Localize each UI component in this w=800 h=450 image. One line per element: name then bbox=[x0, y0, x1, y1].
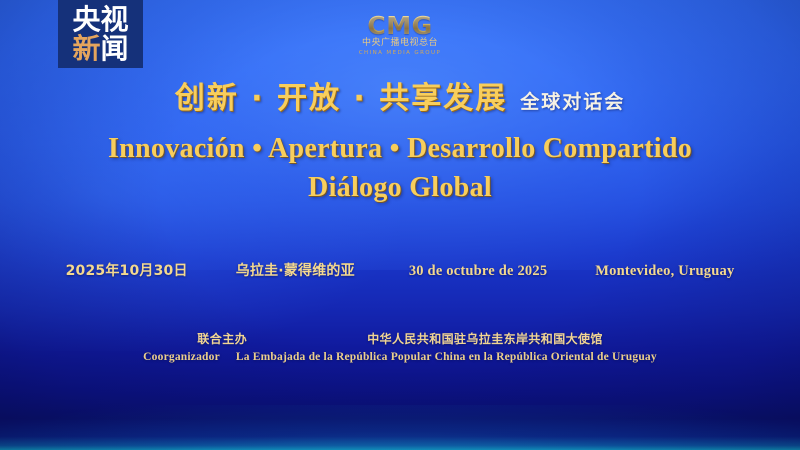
coorganizer-row-spanish: Coorganizador La Embajada de la Repúblic… bbox=[143, 351, 657, 363]
coorganizer-value-spanish: La Embajada de la República Popular Chin… bbox=[236, 351, 657, 363]
cctv-logo-char-wen: 闻 bbox=[101, 35, 129, 63]
coorganizer-label-spanish: Coorganizador bbox=[143, 351, 220, 363]
cctv-logo-char-shi: 视 bbox=[101, 6, 129, 34]
headline-chinese: 创新 · 开放 · 共享发展 全球对话会 bbox=[0, 82, 800, 117]
event-date-chinese: 2025年10月30日 bbox=[66, 260, 188, 280]
headline-spanish-line-2: Diálogo Global bbox=[0, 169, 800, 208]
coorganizer-label-chinese: 联合主办 bbox=[197, 330, 247, 347]
cctv-logo-line-2: 新 闻 bbox=[72, 35, 128, 63]
coorganizer-row-chinese: 联合主办 中华人民共和国驻乌拉圭东岸共和国大使馆 bbox=[197, 330, 603, 347]
cctv-news-logo: 央 视 新 闻 bbox=[58, 0, 143, 68]
headline-chinese-main: 创新 · 开放 · 共享发展 bbox=[175, 82, 508, 117]
headline-spanish: Innovación • Apertura • Desarrollo Compa… bbox=[0, 130, 800, 207]
event-date-spanish: 30 de octubre de 2025 bbox=[409, 263, 547, 280]
event-key-visual: 央 视 新 闻 CMG 中央广播电视总台 CHINA MEDIA GROUP 创… bbox=[0, 0, 800, 450]
cctv-logo-char-xin: 新 bbox=[72, 35, 100, 63]
cctv-logo-line-1: 央 视 bbox=[72, 6, 128, 34]
headline-spanish-line-1: Innovación • Apertura • Desarrollo Compa… bbox=[0, 130, 800, 169]
event-location-chinese: 乌拉圭·蒙得维的亚 bbox=[236, 260, 355, 280]
event-meta-row: 2025年10月30日 乌拉圭·蒙得维的亚 30 de octubre de 2… bbox=[0, 260, 800, 280]
event-location-spanish: Montevideo, Uruguay bbox=[595, 263, 734, 280]
headline-chinese-subtitle: 全球对话会 bbox=[520, 92, 625, 114]
coorganizer-block: 联合主办 中华人民共和国驻乌拉圭东岸共和国大使馆 Coorganizador L… bbox=[0, 330, 800, 363]
cctv-logo-char-yang: 央 bbox=[72, 6, 100, 34]
coorganizer-value-chinese: 中华人民共和国驻乌拉圭东岸共和国大使馆 bbox=[367, 330, 603, 347]
